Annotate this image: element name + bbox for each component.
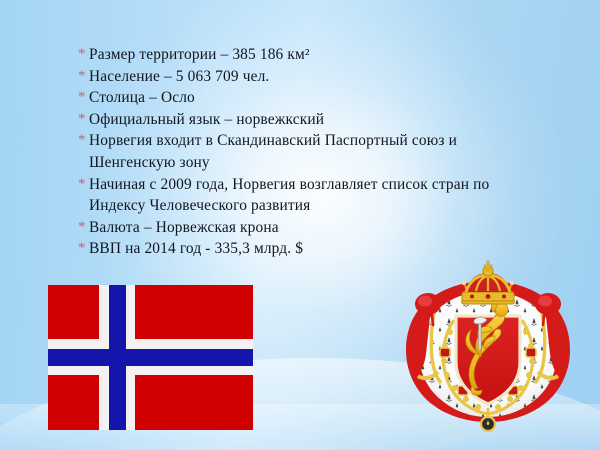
list-item-label: Столица – Осло <box>89 87 498 109</box>
list-item: * Норвегия входит в Скандинавский Паспор… <box>78 130 498 173</box>
slide-canvas: * Размер территории – 385 186 км² * Насе… <box>0 0 600 450</box>
flag-blue-cross-horizontal <box>48 349 253 366</box>
list-item-label: ВВП на 2014 год - 335,3 млрд. $ <box>89 238 498 260</box>
list-item: * Официальный язык – норвежкский <box>78 109 498 131</box>
list-item: * ВВП на 2014 год - 335,3 млрд. $ <box>78 238 498 260</box>
asterisk-bullet-icon: * <box>78 238 89 260</box>
norway-flag-image <box>48 285 253 430</box>
list-item-label: Официальный язык – норвежкский <box>89 109 498 131</box>
asterisk-bullet-icon: * <box>78 44 89 66</box>
list-item-label: Валюта – Норвежская крона <box>89 217 498 239</box>
fact-list: * Размер территории – 385 186 км² * Насе… <box>78 44 498 260</box>
list-item-label: Норвегия входит в Скандинавский Паспортн… <box>89 130 498 173</box>
asterisk-bullet-icon: * <box>78 66 89 88</box>
list-item-label: Начиная с 2009 года, Норвегия возглавляе… <box>89 174 498 217</box>
asterisk-bullet-icon: * <box>78 130 89 152</box>
asterisk-bullet-icon: * <box>78 174 89 196</box>
list-item-label: Размер территории – 385 186 км² <box>89 44 498 66</box>
list-item: * Столица – Осло <box>78 87 498 109</box>
list-item: * Размер территории – 385 186 км² <box>78 44 498 66</box>
asterisk-bullet-icon: * <box>78 217 89 239</box>
royal-crown <box>462 261 515 304</box>
asterisk-bullet-icon: * <box>78 87 89 109</box>
list-item: * Начиная с 2009 года, Норвегия возглавл… <box>78 174 498 217</box>
list-item: * Население – 5 063 709 чел. <box>78 66 498 88</box>
list-item-label: Население – 5 063 709 чел. <box>89 66 498 88</box>
asterisk-bullet-icon: * <box>78 109 89 131</box>
norway-coat-of-arms-image <box>392 258 584 440</box>
list-item: * Валюта – Норвежская крона <box>78 217 498 239</box>
